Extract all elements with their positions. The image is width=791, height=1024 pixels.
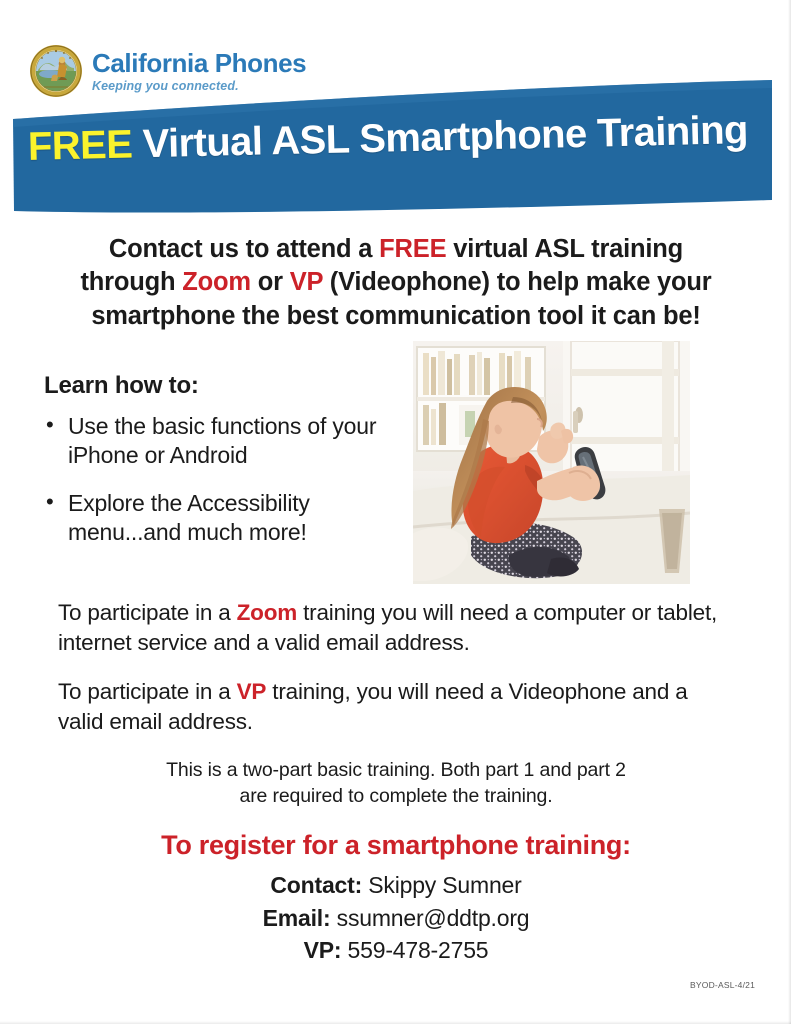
note-line1: This is a two-part basic training. Both … — [166, 759, 626, 781]
asl-training-photo — [413, 341, 690, 584]
contact-details: Contact: Skippy Sumner Email: ssumner@dd… — [46, 869, 746, 967]
contact-value: Skippy Sumner — [368, 872, 521, 898]
brand-name: California Phones — [92, 50, 306, 76]
flyer-page: California Phones Keeping you connected.… — [0, 0, 791, 1024]
contact-email-row: Email: ssumner@ddtp.org — [46, 902, 746, 935]
intro-line3: smartphone the best communication tool i… — [91, 302, 700, 330]
learn-how-to-block: Learn how to: Use the basic functions of… — [44, 372, 396, 566]
email-value[interactable]: ssumner@ddtp.org — [337, 905, 530, 931]
intro-line2-a: through — [80, 268, 182, 296]
note-line2: are required to complete the training. — [240, 785, 553, 807]
two-part-training-note: This is a two-part basic training. Both … — [96, 757, 696, 809]
vp-keyword: VP — [237, 679, 267, 704]
intro-zoom-word: Zoom — [182, 268, 251, 296]
learn-how-to-heading: Learn how to: — [44, 372, 396, 400]
intro-line1-a: Contact us to attend a — [109, 235, 379, 263]
learn-how-to-list: Use the basic functions of your iPhone o… — [44, 412, 396, 547]
contact-vp-row: VP: 559-478-2755 — [46, 934, 746, 967]
intro-line2-b: or — [251, 268, 290, 296]
vp-value[interactable]: 559-478-2755 — [348, 937, 489, 963]
vp-requirements-paragraph: To participate in a VP training, you wil… — [58, 677, 738, 738]
list-item: Use the basic functions of your iPhone o… — [44, 412, 396, 470]
vp-label: VP: — [304, 937, 342, 963]
document-code: BYOD-ASL-4/21 — [690, 980, 755, 990]
register-heading: To register for a smartphone training: — [46, 830, 746, 861]
intro-free-word: FREE — [379, 235, 446, 263]
email-label: Email: — [263, 905, 331, 931]
intro-line2-c: (Videophone) to help make your — [323, 268, 712, 296]
zoom-para-a: To participate in a — [58, 600, 237, 625]
contact-label: Contact: — [270, 872, 362, 898]
zoom-requirements-paragraph: To participate in a Zoom training you wi… — [58, 598, 738, 659]
contact-name-row: Contact: Skippy Sumner — [46, 869, 746, 902]
title-banner: FREE Virtual ASL Smartphone Training — [0, 78, 791, 218]
list-item: Explore the Accessibility menu...and muc… — [44, 489, 396, 547]
intro-paragraph: Contact us to attend a FREE virtual ASL … — [26, 233, 766, 333]
zoom-keyword: Zoom — [237, 600, 297, 625]
intro-line1-b: virtual ASL training — [446, 235, 683, 263]
intro-vp-word: VP — [290, 268, 323, 296]
vp-para-a: To participate in a — [58, 679, 237, 704]
banner-title-free: FREE — [27, 123, 132, 169]
